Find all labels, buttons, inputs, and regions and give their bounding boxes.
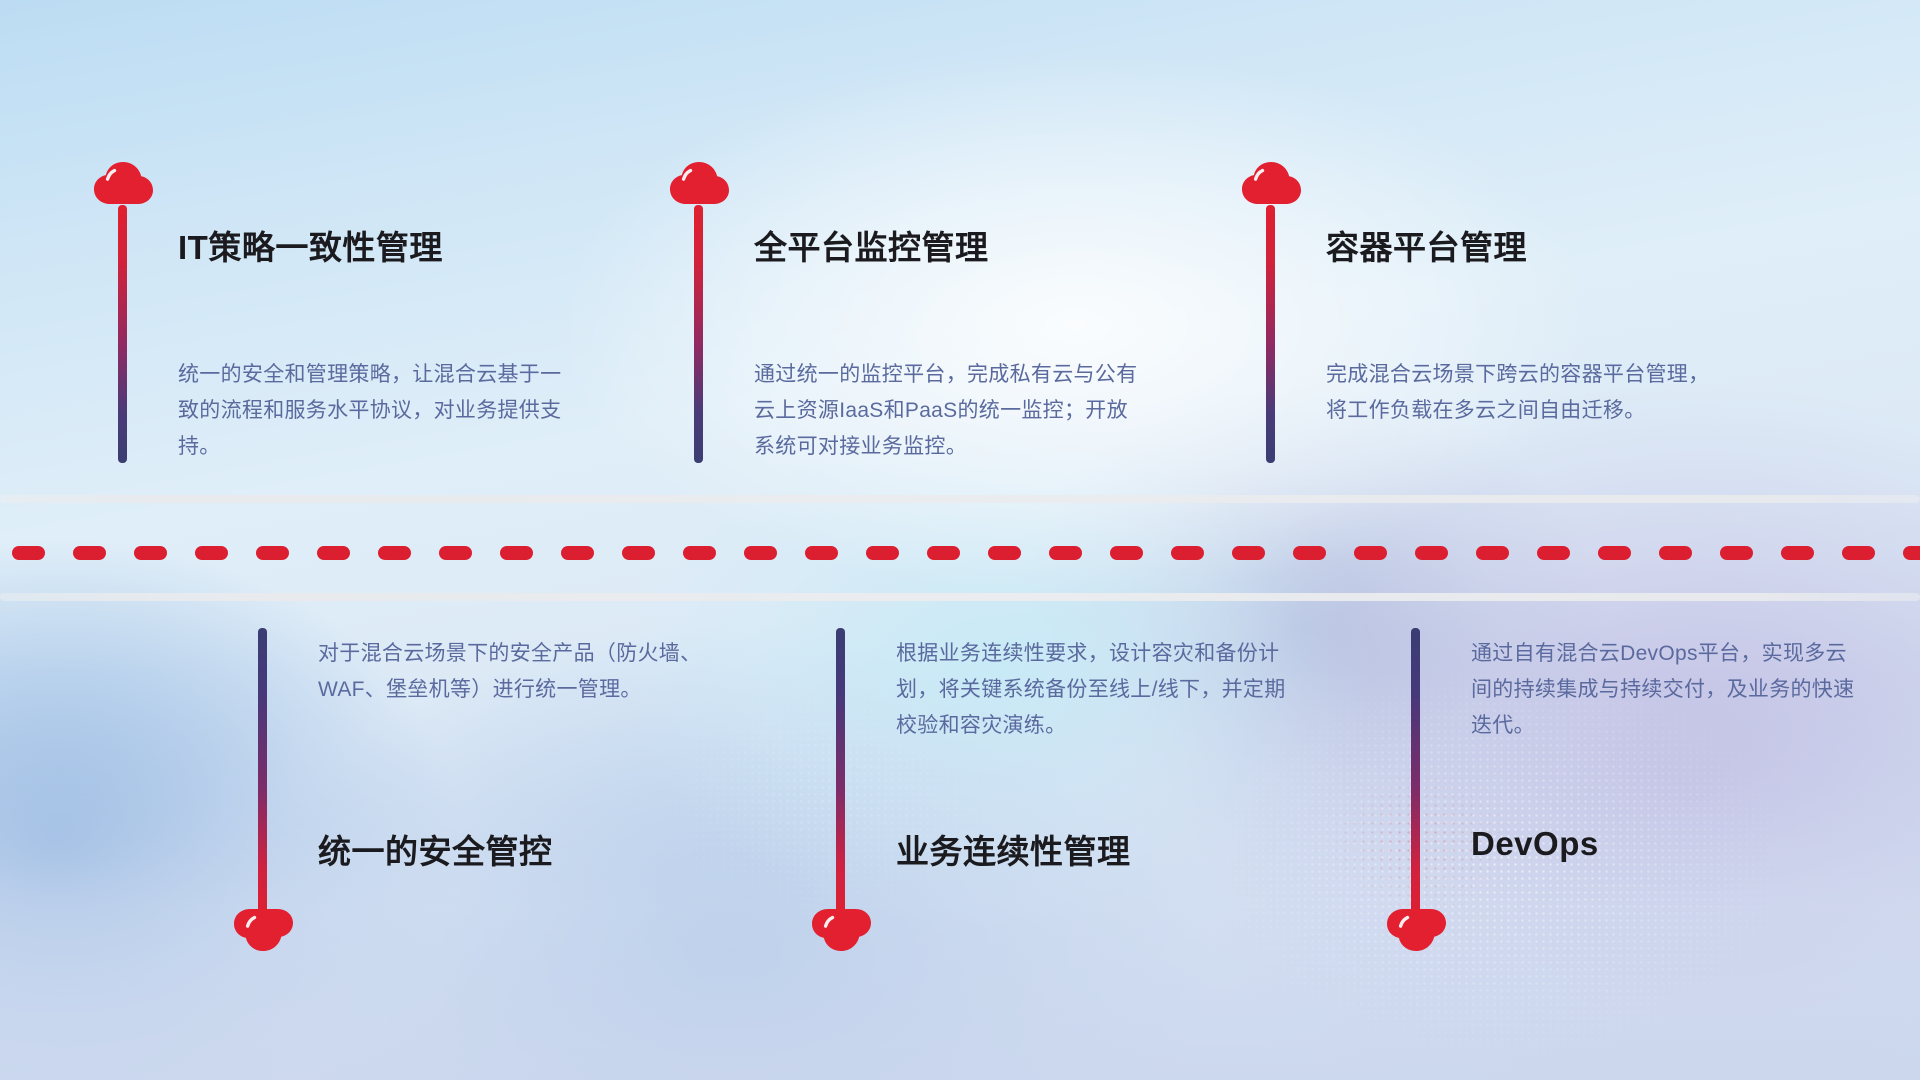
connector-bar — [118, 205, 127, 463]
divider-dash — [1354, 546, 1387, 560]
divider-dash — [1842, 546, 1875, 560]
divider-dash — [744, 546, 777, 560]
divider-dash — [317, 546, 350, 560]
connector-bar — [1411, 628, 1420, 920]
divider-dash — [988, 546, 1021, 560]
bottom-heading-2: 业务连续性管理 — [896, 825, 1131, 873]
bottom-body-3: 通过自有混合云DevOps平台，实现多云间的持续集成与持续交付，及业务的快速迭代… — [1471, 636, 1863, 744]
cloud-icon — [668, 160, 730, 210]
divider-dashed-line — [0, 546, 1920, 560]
divider-dash — [1232, 546, 1265, 560]
divider-dash — [805, 546, 838, 560]
top-heading-3: 容器平台管理 — [1326, 221, 1527, 269]
bottom-heading-1: 统一的安全管控 — [318, 825, 553, 873]
cloud-icon — [232, 903, 294, 953]
cloud-icon — [1385, 903, 1447, 953]
divider-dash — [1415, 546, 1448, 560]
divider-rule-upper — [0, 495, 1920, 503]
divider-dash — [12, 546, 45, 560]
connector-bar — [836, 628, 845, 920]
bottom-body-1: 对于混合云场景下的安全产品（防火墙、WAF、堡垒机等）进行统一管理。 — [318, 636, 710, 708]
divider-dash — [1659, 546, 1692, 560]
divider-dash — [866, 546, 899, 560]
divider-dash — [1537, 546, 1570, 560]
divider-dash — [73, 546, 106, 560]
infographic-stage: IT策略一致性管理 统一的安全和管理策略，让混合云基于一致的流程和服务水平协议，… — [0, 0, 1920, 1080]
connector-bar — [694, 205, 703, 463]
connector-bar — [258, 628, 267, 920]
connector-bar — [1266, 205, 1275, 463]
cloud-icon — [92, 160, 154, 210]
divider-dash — [1171, 546, 1204, 560]
bottom-heading-3: DevOps — [1471, 825, 1599, 863]
bottom-body-2: 根据业务连续性要求，设计容灾和备份计划，将关键系统备份至线上/线下，并定期校验和… — [896, 636, 1288, 744]
divider-dash — [1598, 546, 1631, 560]
divider-dash — [683, 546, 716, 560]
cloud-icon — [1240, 160, 1302, 210]
divider-dash — [1720, 546, 1753, 560]
divider-dash — [256, 546, 289, 560]
divider-dash — [927, 546, 960, 560]
divider-dash — [195, 546, 228, 560]
top-heading-1: IT策略一致性管理 — [178, 221, 443, 269]
divider-dash — [1903, 546, 1920, 560]
divider-dash — [1110, 546, 1143, 560]
divider-dash — [1781, 546, 1814, 560]
divider-dash — [622, 546, 655, 560]
divider-dash — [134, 546, 167, 560]
top-body-2: 通过统一的监控平台，完成私有云与公有云上资源IaaS和PaaS的统一监控；开放系… — [754, 357, 1146, 465]
divider-dash — [500, 546, 533, 560]
cloud-icon — [810, 903, 872, 953]
divider-rule-lower — [0, 593, 1920, 601]
divider-dash — [378, 546, 411, 560]
divider-dash — [1049, 546, 1082, 560]
top-body-3: 完成混合云场景下跨云的容器平台管理，将工作负载在多云之间自由迁移。 — [1326, 357, 1718, 429]
divider-dash — [1476, 546, 1509, 560]
top-body-1: 统一的安全和管理策略，让混合云基于一致的流程和服务水平协议，对业务提供支持。 — [178, 357, 570, 465]
divider-dash — [1293, 546, 1326, 560]
top-heading-2: 全平台监控管理 — [754, 221, 989, 269]
divider-dash — [561, 546, 594, 560]
divider-dash — [439, 546, 472, 560]
